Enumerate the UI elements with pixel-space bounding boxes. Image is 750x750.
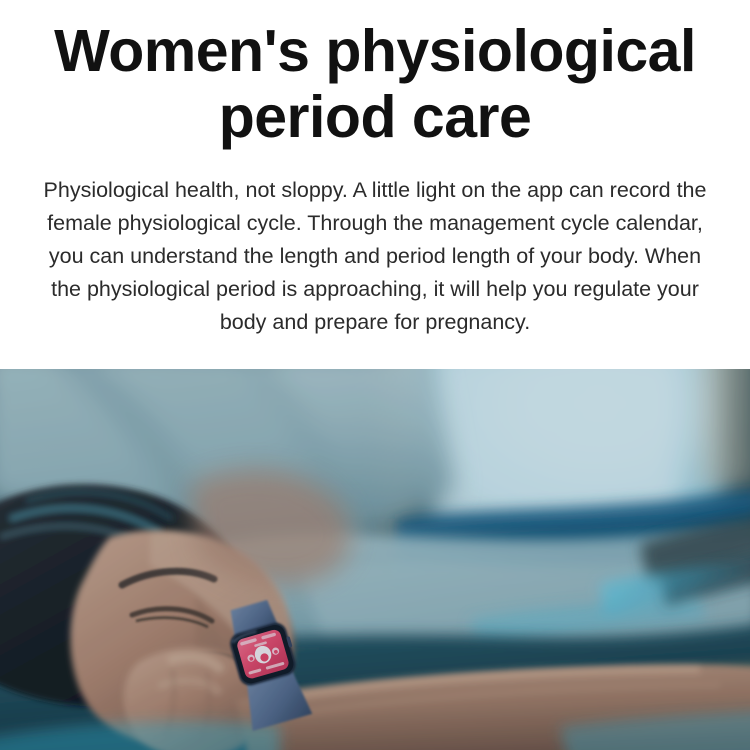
page-title: Women's physiological period care [14, 18, 736, 150]
page-title-line-1: Women's physiological [14, 18, 736, 84]
hero-photo [0, 369, 750, 750]
photo-illustration [0, 369, 750, 750]
text-block: Women's physiological period care Physio… [0, 0, 750, 369]
promo-banner: Women's physiological period care Physio… [0, 0, 750, 750]
page-title-line-2: period care [14, 84, 736, 150]
description-paragraph: Physiological health, not sloppy. A litt… [36, 174, 714, 339]
